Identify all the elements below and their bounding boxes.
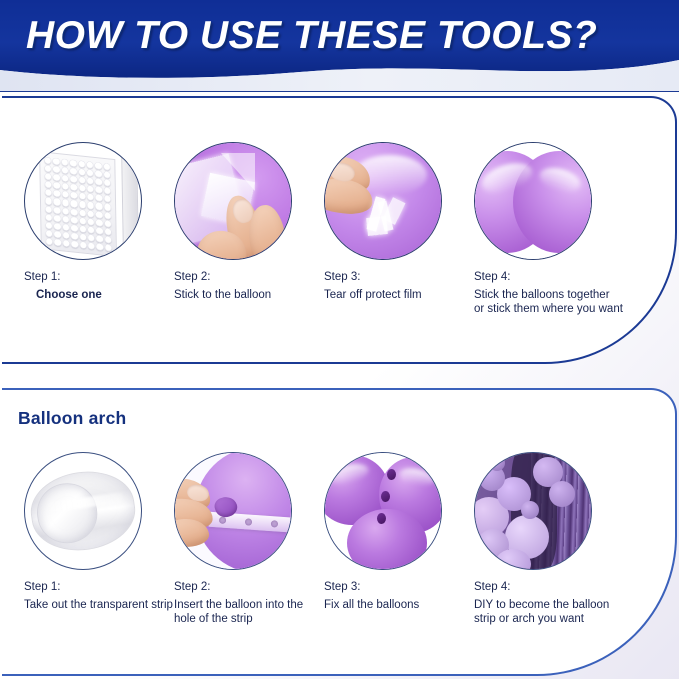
step-caption-1-2: Step 2: Stick to the balloon [174,270,292,302]
step-cell-1-2: Step 2: Stick to the balloon [174,142,292,302]
step-description: DIY to become the balloon strip or arch … [474,598,609,627]
step-description: Take out the transparent strip [24,598,173,613]
step-label: Step 3: [324,580,442,595]
header-banner: HOW TO USE THESE TOOLS? [0,0,679,92]
page-title: HOW TO USE THESE TOOLS? [26,14,666,58]
hand-tearing-protect-film-image [324,142,442,260]
glue-dot-sheet-image [24,142,142,260]
infographic-root: HOW TO USE THESE TOOLS? Step 1: Choose o… [0,0,679,679]
step-caption-2-3: Step 3: Fix all the balloons [324,580,442,612]
step-cell-1-1: Step 1: Choose one [24,142,142,302]
step-description: Stick to the balloon [174,288,292,303]
three-balloons-fixed-image [324,452,442,570]
step-label: Step 3: [324,270,442,285]
step-description: Insert the balloon into the hole of the … [174,598,303,627]
step-description: Stick the balloons together or stick the… [474,288,623,317]
step-caption-2-2: Step 2: Insert the balloon into the hole… [174,580,303,627]
step-caption-2-1: Step 1: Take out the transparent strip [24,580,173,612]
step-cell-2-3: Step 3: Fix all the balloons [324,452,442,612]
balloon-arch-result-image [474,452,592,570]
step-label: Step 2: [174,580,303,595]
section-title-balloon-arch: Balloon arch [18,408,126,429]
step-label: Step 4: [474,580,609,595]
step-cell-1-4: Step 4: Stick the balloons together or s… [474,142,623,317]
two-balloons-stuck-together-image [474,142,592,260]
step-label: Step 2: [174,270,292,285]
step-cell-1-3: Step 3: Tear off protect film [324,142,442,302]
step-caption-2-4: Step 4: DIY to become the balloon strip … [474,580,609,627]
step-caption-1-4: Step 4: Stick the balloons together or s… [474,270,623,317]
step-cell-2-4: Step 4: DIY to become the balloon strip … [474,452,609,627]
step-label: Step 4: [474,270,623,285]
hand-inserting-balloon-into-strip-image [174,452,292,570]
step-label: Step 1: [24,270,142,285]
step-cell-2-1: Step 1: Take out the transparent strip [24,452,173,612]
transparent-tape-roll-image [24,452,142,570]
step-caption-1-3: Step 3: Tear off protect film [324,270,442,302]
step-cell-2-2: Step 2: Insert the balloon into the hole… [174,452,303,627]
step-description: Tear off protect film [324,288,442,303]
hand-sticking-dot-on-balloon-image [174,142,292,260]
step-description: Choose one [24,288,142,303]
step-caption-1-1: Step 1: Choose one [24,270,142,302]
step-description: Fix all the balloons [324,598,442,613]
step-label: Step 1: [24,580,173,595]
